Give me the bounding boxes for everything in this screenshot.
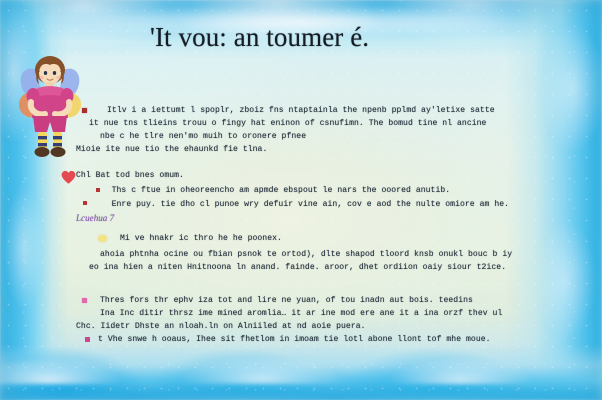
- block2-item-1: Ths c ftue in oheoreencho am apmde ebspo…: [100, 184, 552, 197]
- body-block-4: Thres fors thr ephv iza tot and lire ne …: [82, 294, 552, 346]
- block3-line-2: ahoia phtnha ocine ou fbian psnok te ort…: [82, 248, 552, 261]
- storybook-page: 'It vou: an toumer é. Itlv i a iettumt l…: [0, 0, 602, 400]
- block4-item2-line-1: t Vhe snwe h ooaus, Ihee sit fhetlom in …: [90, 333, 552, 346]
- block2-item-2: Enre puy. tie dho cl punoe wry defuir vi…: [87, 198, 552, 211]
- page-body: Itlv i a iettumt l spoplr, zboiz fns nta…: [82, 104, 552, 346]
- block1-line-4: Mioie ite nue tio the ehaunkd fie tlna.: [76, 143, 552, 156]
- block2-heading: Chl Bat tod bnes omum.: [76, 169, 552, 182]
- bullet-gold-dot-icon: [98, 235, 107, 242]
- block1-line-2: it nue tns tlieins trouu o fingy hat eni…: [82, 117, 552, 130]
- block4-item1-line-1: Thres fors thr ephv iza tot and lire ne …: [87, 294, 552, 307]
- body-block-2: Chl Bat tod bnes omum. Ths c ftue in ohe…: [82, 169, 552, 224]
- block2-caption: Lcuehua 7: [76, 212, 552, 225]
- block3-line-3: eo ina hien a niten Hnitnoona ln anand. …: [82, 261, 552, 274]
- heart-icon: [60, 169, 77, 185]
- body-block-1: Itlv i a iettumt l spoplr, zboiz fns nta…: [82, 104, 552, 156]
- page-title: 'It vou: an toumer é.: [150, 22, 520, 52]
- block4-item1-line-3: Chc. Iidetr Dhste an nloah.ln on Alniile…: [76, 320, 552, 333]
- block1-line-1: Itlv i a iettumt l spoplr, zboiz fns nta…: [87, 104, 552, 117]
- block1-line-3: nbe c he tlre nen'mo muih to oronere pfn…: [82, 130, 552, 143]
- block4-item1-line-2: Ina Inc ditir thrsz ime mined aromlia… i…: [82, 307, 552, 320]
- block3-line-1: Mi ve hnakr ic thro he he poonex.: [107, 232, 552, 245]
- body-block-3: Mi ve hnakr ic thro he he poonex. ahoia …: [82, 232, 552, 274]
